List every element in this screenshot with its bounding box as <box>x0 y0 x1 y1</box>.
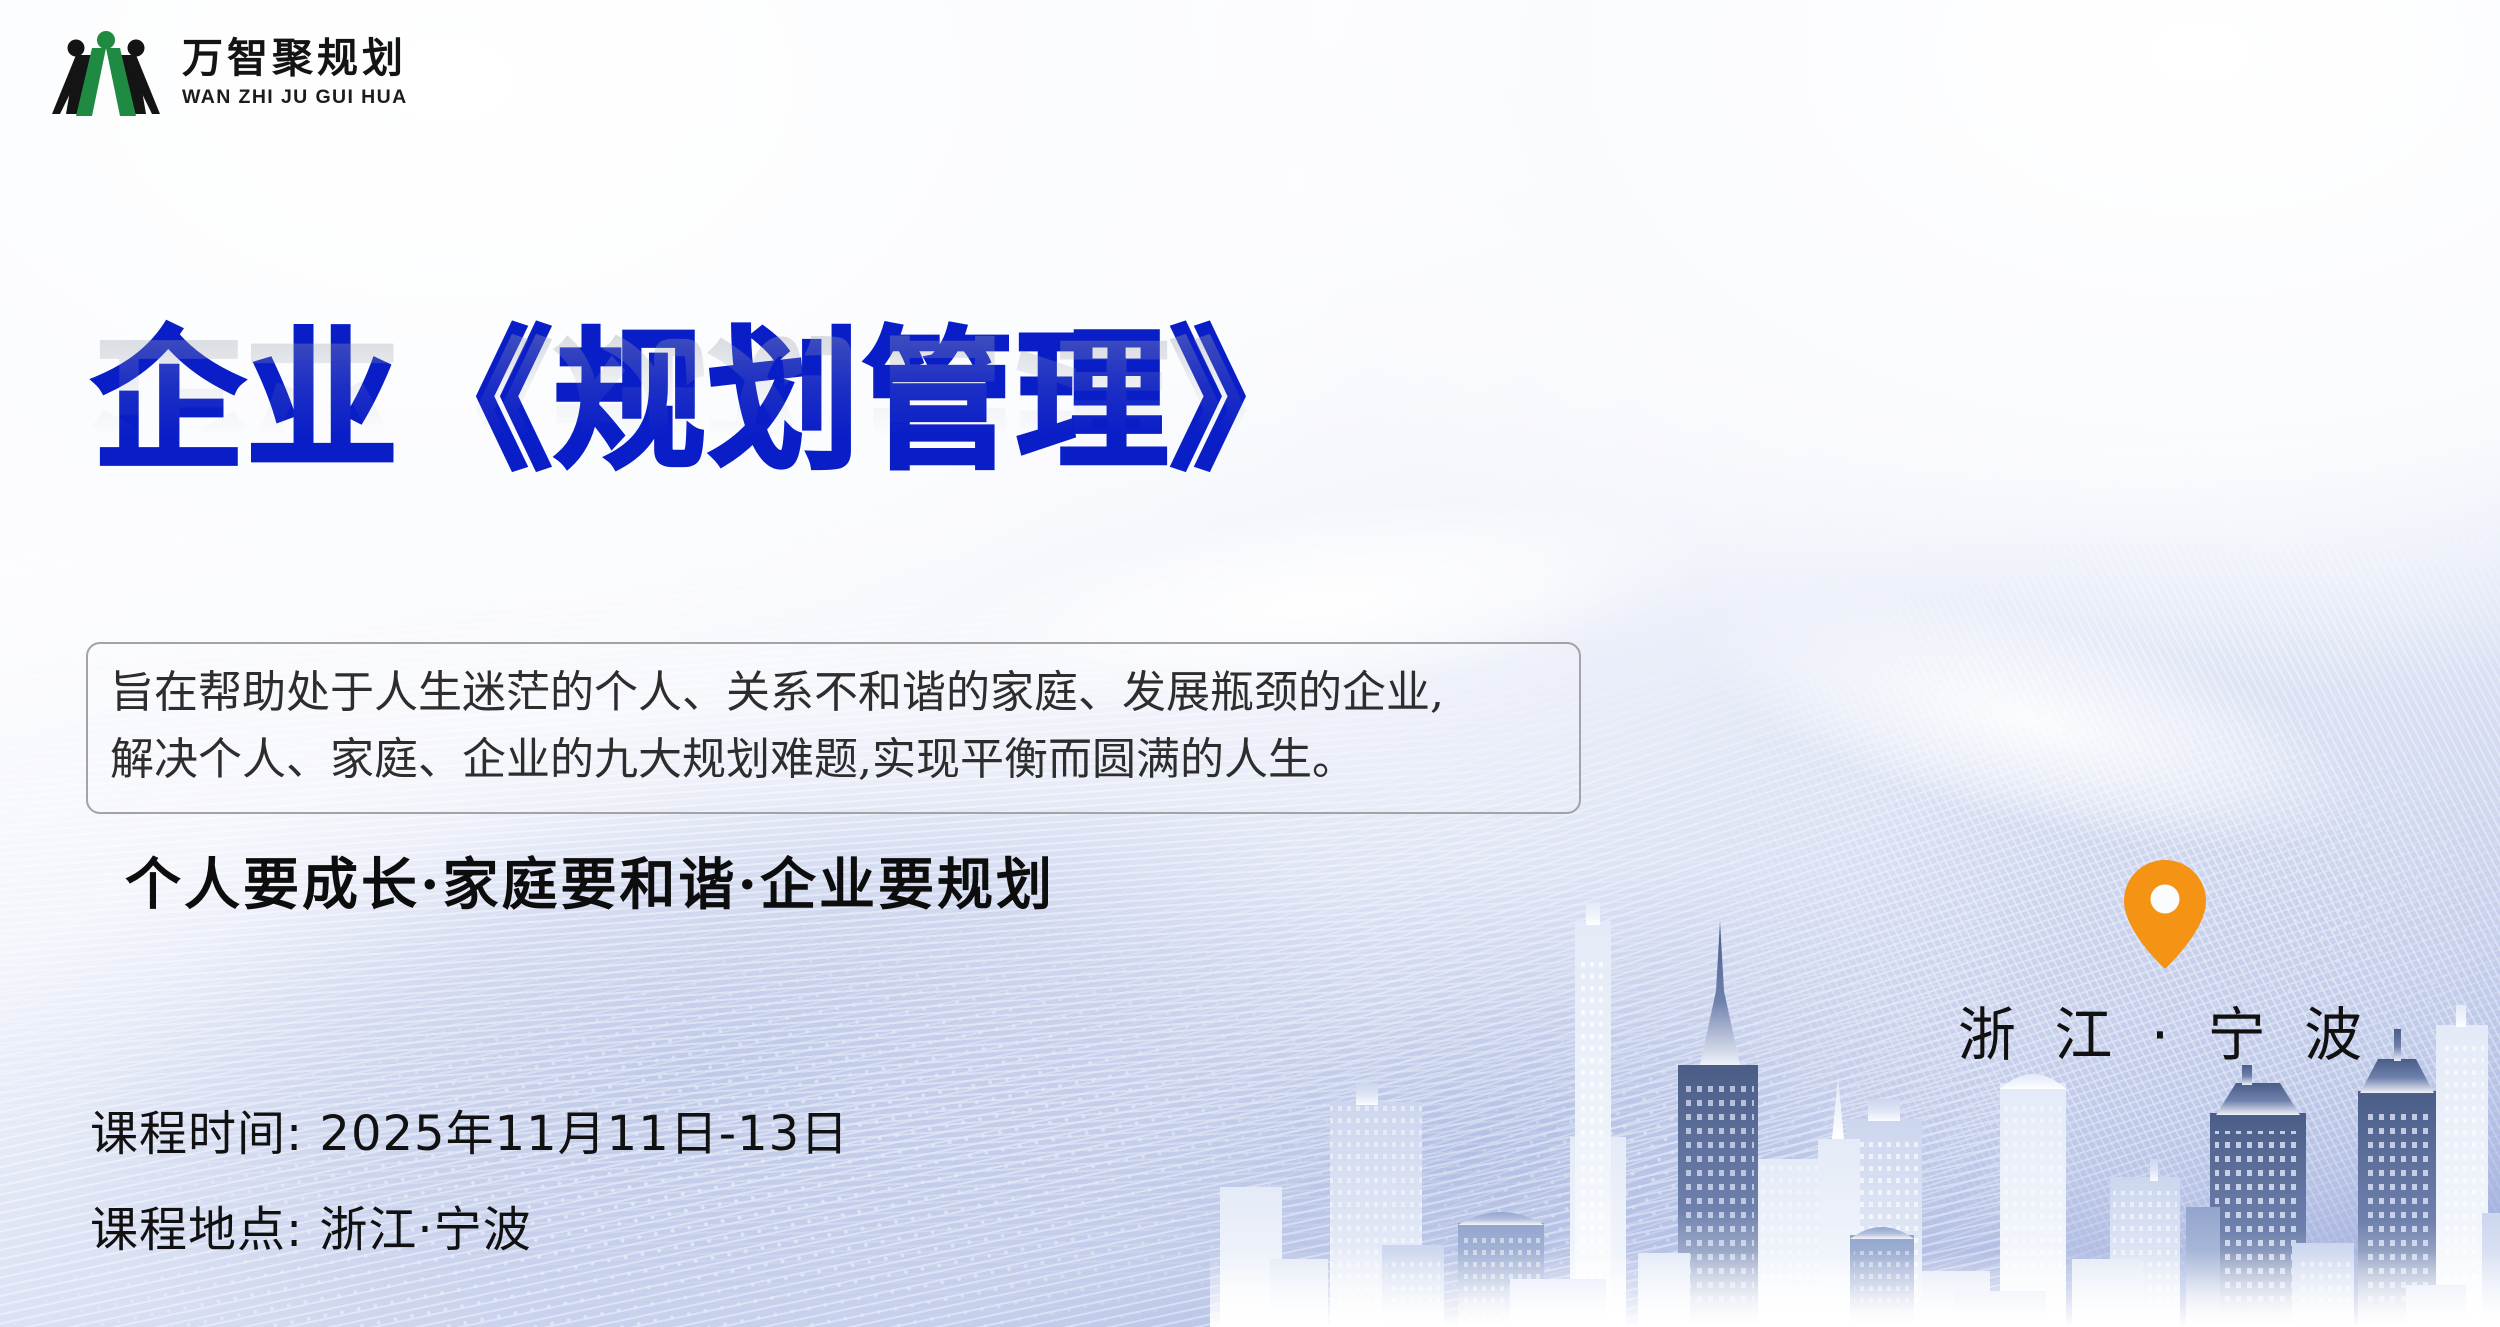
location-label: 浙 江 · 宁 波 <box>1958 988 2372 1072</box>
page-title-reflection: 企业《规划管理》 <box>92 328 1324 480</box>
brand-name-block: 万智聚规划 WAN ZHI JU GUI HUA <box>182 37 408 109</box>
three-people-group-icon <box>52 28 160 118</box>
description-line-2: 解决个人、家庭、企业的九大规划难题,实现平衡而圆满的人生。 <box>110 727 1557 794</box>
location-block: 浙 江 · 宁 波 <box>1955 858 2375 1072</box>
hero-title-block: 企业《规划管理》 企业《规划管理》 <box>92 326 1324 632</box>
course-info-block: 课程时间: 2025年11月11日-13日 课程地点: 浙江·宁波 <box>90 1110 849 1254</box>
brand-name-en: WAN ZHI JU GUI HUA <box>182 86 408 109</box>
course-time-row: 课程时间: 2025年11月11日-13日 <box>90 1110 849 1158</box>
tagline: 个人要成长·家庭要和谐·企业要规划 <box>125 840 1055 921</box>
brand-logo[interactable]: 万智聚规划 WAN ZHI JU GUI HUA <box>52 28 408 118</box>
description-box: 旨在帮助处于人生迷茫的个人、关系不和谐的家庭、发展瓶颈的企业, 解决个人、家庭、… <box>86 642 1581 814</box>
poster-canvas: 万智聚规划 WAN ZHI JU GUI HUA 企业《规划管理》 企业《规划管… <box>0 0 2500 1327</box>
brand-name-cn: 万智聚规划 <box>182 37 408 80</box>
description-line-1: 旨在帮助处于人生迷茫的个人、关系不和谐的家庭、发展瓶颈的企业, <box>110 660 1557 727</box>
course-place-row: 课程地点: 浙江·宁波 <box>90 1206 849 1254</box>
map-pin-icon <box>2122 858 2208 970</box>
